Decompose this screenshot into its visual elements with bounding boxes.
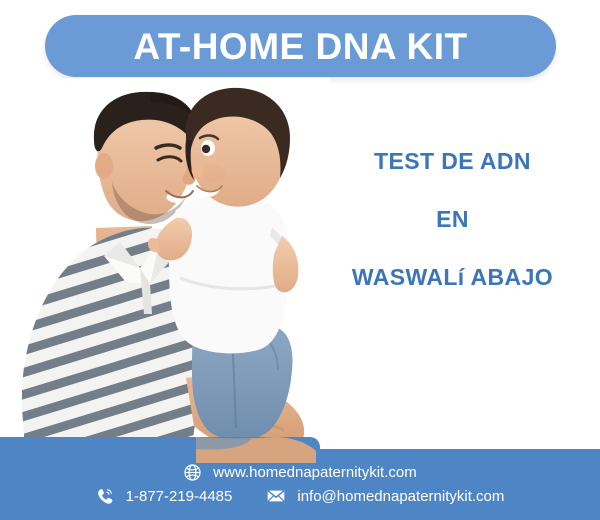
phone-number: 1-877-219-4485 [126, 489, 233, 504]
phone-contact[interactable]: 1-877-219-4485 [96, 487, 233, 506]
poster-canvas: AT-HOME DNA KIT [0, 0, 600, 520]
footer-contact-bar: www.homednapaternitykit.com 1-877-219-44… [0, 449, 600, 520]
hero-line-2: EN [310, 208, 595, 231]
email-contact[interactable]: info@homednapaternitykit.com [266, 486, 504, 506]
hero-text-block: TEST DE ADN EN WASWALí ABAJO [310, 150, 595, 289]
hero-line-1: TEST DE ADN [310, 150, 595, 173]
website-contact[interactable]: www.homednapaternitykit.com [183, 463, 416, 482]
page-title: AT-HOME DNA KIT [133, 28, 467, 65]
header-banner: AT-HOME DNA KIT [45, 15, 556, 77]
phone-icon [96, 487, 115, 506]
website-url: www.homednapaternitykit.com [213, 465, 416, 480]
hero-line-3: WASWALí ABAJO [310, 266, 595, 289]
father-and-child-photo [0, 78, 330, 463]
footer-row-website: www.homednapaternitykit.com [183, 463, 416, 482]
globe-icon [183, 463, 202, 482]
email-address: info@homednapaternitykit.com [297, 489, 504, 504]
envelope-icon [266, 486, 286, 506]
footer-row-phone-email: 1-877-219-4485 info@homednapaternitykit.… [96, 486, 505, 506]
